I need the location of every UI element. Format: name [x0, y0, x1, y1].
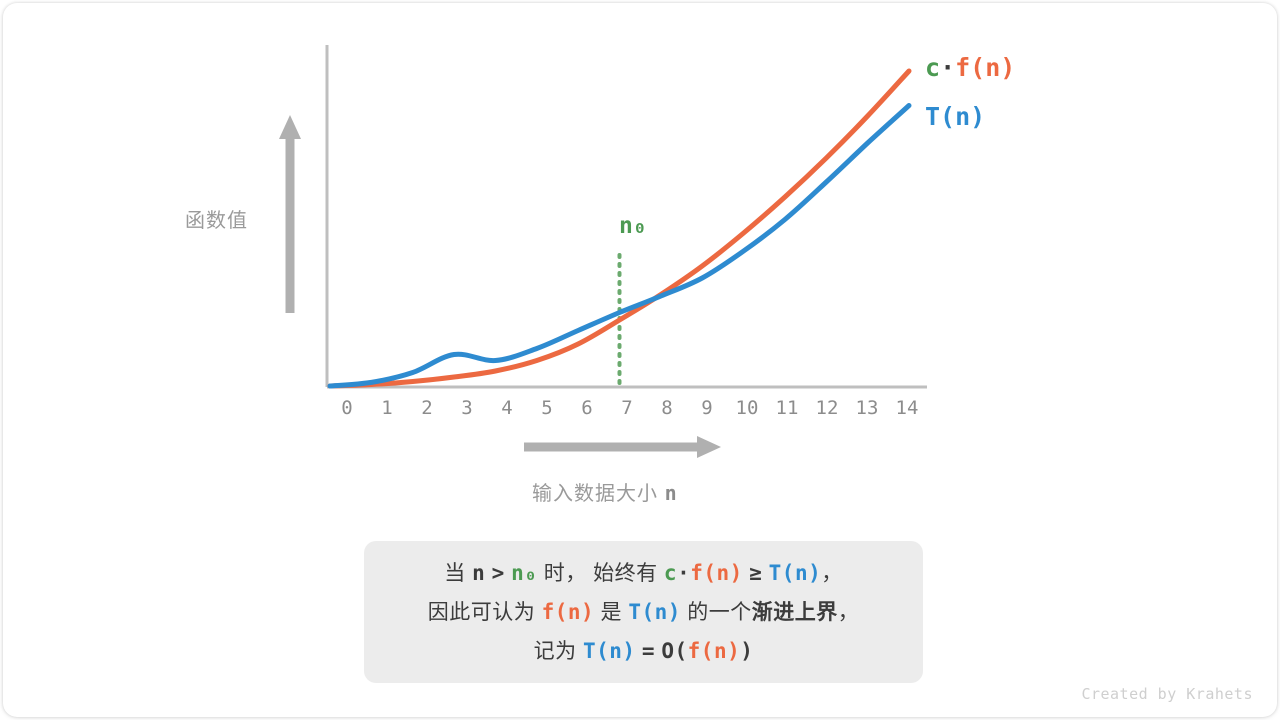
caption-l2-therefore: 因此可认为: [428, 601, 536, 624]
caption-l1-then: 时，: [544, 562, 587, 585]
x-direction-arrow: [524, 436, 721, 458]
x-tick-13: 13: [852, 397, 882, 419]
caption-l2-is: 是: [601, 601, 623, 624]
caption-line-3: 记为 T(n) = O(f(n)): [534, 634, 754, 669]
caption-l3-fn: f(n): [688, 639, 741, 663]
caption-line-1: 当 n > n₀ 时， 始终有 c·f(n) ≥ T(n)，: [444, 556, 842, 591]
caption-l3-big-o: O(: [661, 639, 687, 663]
x-axis-label-variable: n: [665, 481, 678, 505]
legend-item-t-n: T(n): [925, 102, 985, 131]
x-tick-7: 7: [612, 397, 642, 419]
watermark-credit: Created by Krahets: [1081, 685, 1253, 703]
caption-l1-n: n: [472, 561, 485, 585]
x-tick-6: 6: [572, 397, 602, 419]
legend-dot-symbol: ·: [940, 53, 955, 82]
caption-l3-close-paren: ): [740, 639, 753, 663]
y-direction-arrow: [279, 115, 301, 313]
caption-l1-gt: >: [492, 561, 505, 585]
caption-l2-fn: f(n): [542, 600, 595, 624]
n0-annotation-label: n₀: [619, 213, 647, 239]
x-tick-1: 1: [372, 397, 402, 419]
caption-l1-tn: T(n): [769, 561, 822, 585]
caption-l2-upper-bound: 渐进上界: [752, 601, 838, 624]
caption-l1-comma: ，: [821, 562, 843, 585]
caption-l3-denoted: 记为: [534, 640, 577, 663]
x-tick-9: 9: [692, 397, 722, 419]
x-tick-14: 14: [892, 397, 922, 419]
x-axis-label: 输入数据大小 n: [532, 477, 678, 506]
caption-l3-tn: T(n): [583, 639, 636, 663]
x-tick-3: 3: [452, 397, 482, 419]
caption-l1-when: 当: [444, 562, 466, 585]
caption-l1-c: c: [664, 561, 677, 585]
caption-l1-always: 始终有: [593, 562, 658, 585]
legend-c-symbol: c: [925, 53, 940, 82]
x-tick-0: 0: [332, 397, 362, 419]
x-tick-11: 11: [772, 397, 802, 419]
caption-l1-n0: n₀: [511, 561, 537, 585]
caption-l2-tn: T(n): [628, 600, 681, 624]
x-tick-5: 5: [532, 397, 562, 419]
x-axis-label-text: 输入数据大小: [532, 483, 658, 505]
x-tick-2: 2: [412, 397, 442, 419]
y-axis-label: 函数值: [185, 204, 248, 233]
x-tick-4: 4: [492, 397, 522, 419]
legend-connectors: [873, 77, 901, 111]
x-tick-8: 8: [652, 397, 682, 419]
caption-l1-dot: ·: [677, 561, 690, 585]
figure-card: c·f(n) T(n) n₀ 0 1 2 3 4 5 6 7 8 9 10 11…: [3, 3, 1277, 717]
caption-l3-eq: =: [642, 639, 655, 663]
legend-t-n-symbol: T(n): [925, 102, 985, 131]
caption-l2-of-one: 的一个: [687, 601, 752, 624]
x-tick-10: 10: [732, 397, 762, 419]
x-tick-12: 12: [812, 397, 842, 419]
caption-l1-ge: ≥: [749, 561, 762, 585]
legend-item-c-f-n: c·f(n): [925, 53, 1015, 82]
caption-l2-comma: ，: [838, 601, 860, 624]
caption-box: 当 n > n₀ 时， 始终有 c·f(n) ≥ T(n)， 因此可认为 f(n…: [364, 541, 923, 683]
caption-line-2: 因此可认为 f(n) 是 T(n) 的一个渐进上界，: [428, 595, 860, 630]
legend-f-n-symbol: f(n): [955, 53, 1015, 82]
caption-l1-fn: f(n): [690, 561, 743, 585]
